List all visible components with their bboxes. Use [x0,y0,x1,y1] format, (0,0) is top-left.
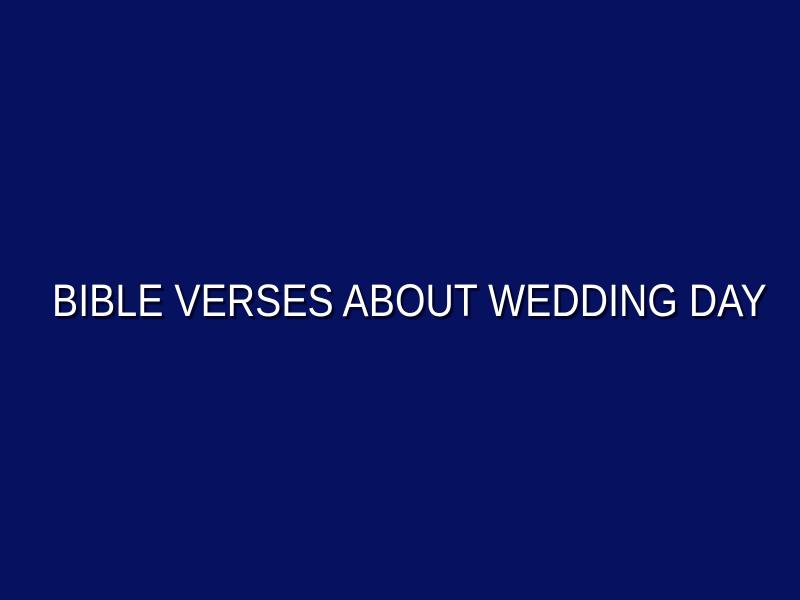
page-title: BIBLE VERSES ABOUT WEDDING DAY [52,278,748,323]
title-card: BIBLE VERSES ABOUT WEDDING DAY [0,0,800,600]
